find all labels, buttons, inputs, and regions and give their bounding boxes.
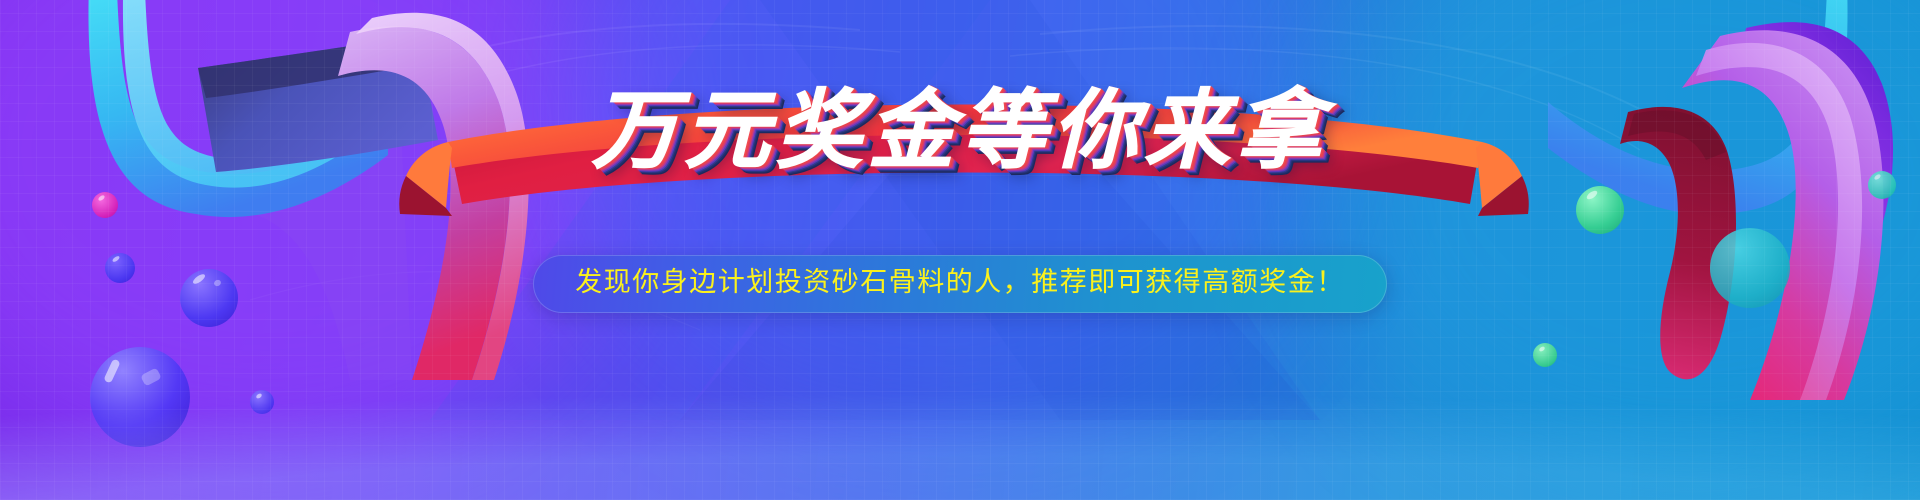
left-ribbon-swoosh: [20, 0, 540, 385]
background-wedge-center: [560, 0, 1320, 420]
bubble-green-medium: [1576, 186, 1624, 234]
bubble-green-tiny: [1533, 343, 1557, 367]
headline-container: 万元奖金等你来拿: [0, 88, 1920, 174]
promo-banner: 万元奖金等你来拿 发现你身边计划投资砂石骨料的人，推荐即可获得高额奖金！: [0, 0, 1920, 500]
background-wedge-right: [700, 0, 1320, 420]
background-wedge-left: [430, 0, 990, 420]
background-glow-blue: [560, 0, 1320, 430]
bubble-teal-small: [1868, 171, 1896, 199]
right-ribbon-swoosh: [1420, 0, 1920, 405]
bottom-light-band: [0, 380, 1920, 500]
subtitle-container: 发现你身边计划投资砂石骨料的人，推荐即可获得高额奖金！: [0, 255, 1920, 313]
bubble-pink-small: [92, 192, 118, 218]
subtitle-pill: 发现你身边计划投资砂石骨料的人，推荐即可获得高额奖金！: [533, 255, 1387, 313]
subtitle-text: 发现你身边计划投资砂石骨料的人，推荐即可获得高额奖金！: [575, 267, 1345, 298]
page-title: 万元奖金等你来拿: [592, 88, 1328, 174]
